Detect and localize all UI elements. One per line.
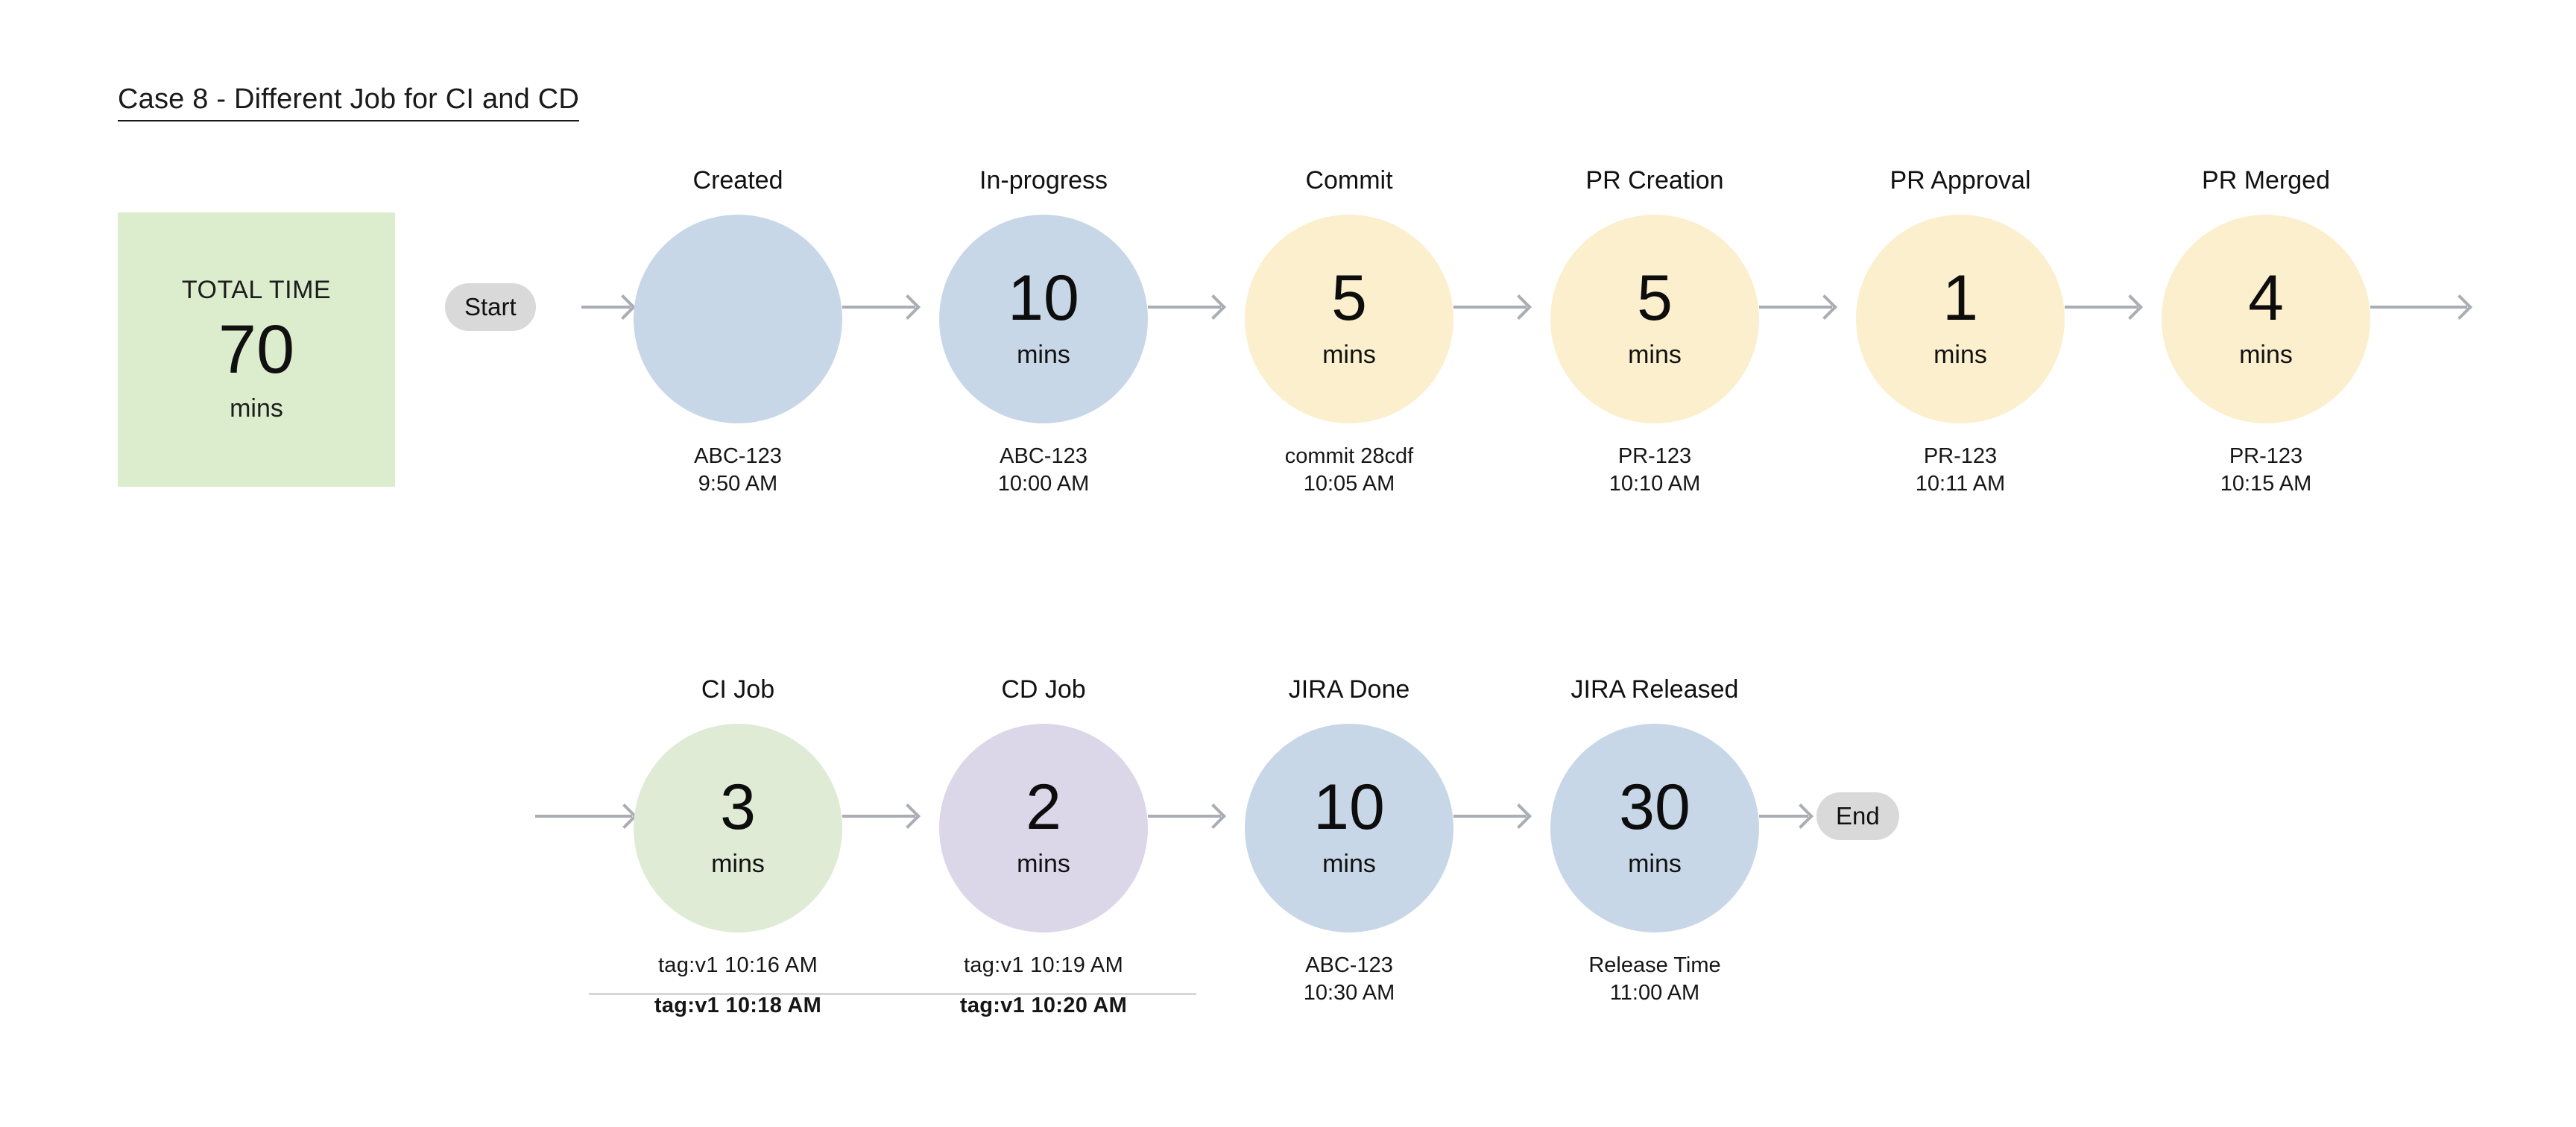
arrow-cdjob-to-jiradone — [1148, 815, 1221, 818]
node-title: PR Approval — [1856, 165, 2065, 196]
node-circle: 5 mins — [1550, 215, 1759, 423]
arrow-created-to-inprogress — [842, 306, 915, 309]
node-title: Created — [634, 165, 842, 196]
node-unit: mins — [2239, 341, 2293, 370]
node-unit: mins — [1322, 341, 1376, 370]
node-meta-time: 10:00 AM — [939, 470, 1148, 498]
node-meta-ref: PR-123 — [2162, 443, 2370, 470]
node-value: 5 — [1331, 268, 1367, 329]
node-title: CI Job — [634, 674, 842, 705]
flow-row-2: End CI Job 3 mins tag:v1 10:16 AM tag:v1… — [0, 619, 2576, 1036]
flow-row-1: Start Created mins ABC-123 9:50 AM In-pr… — [0, 149, 2576, 566]
node-ci-job[interactable]: CI Job 3 mins tag:v1 10:16 AM tag:v1 10:… — [634, 674, 842, 1020]
node-meta-ref: tag:v1 10:19 AM — [939, 952, 1148, 979]
node-pr-merged[interactable]: PR Merged 4 mins PR-123 10:15 AM — [2162, 165, 2370, 498]
node-title: PR Creation — [1550, 165, 1759, 196]
node-circle: 10 mins — [939, 215, 1148, 423]
node-meta: PR-123 10:15 AM — [2162, 443, 2370, 498]
node-value: 1 — [1942, 268, 1978, 329]
node-unit: mins — [1322, 850, 1376, 879]
node-meta-time: tag:v1 10:20 AM — [939, 992, 1148, 1020]
node-meta: ABC-123 10:00 AM — [939, 443, 1148, 498]
node-jira-done[interactable]: JIRA Done 10 mins ABC-123 10:30 AM — [1245, 674, 1453, 1007]
end-marker[interactable]: End — [1816, 792, 1899, 840]
node-meta-ref: ABC-123 — [1245, 952, 1453, 979]
arrow-commit-to-prcreation — [1453, 306, 1527, 309]
arrow-row2-wrap-in — [535, 815, 632, 818]
arrow-row1-wrap-out — [2370, 306, 2467, 309]
node-unit: mins — [1933, 341, 1987, 370]
node-title: CD Job — [939, 674, 1148, 705]
node-meta: ABC-123 10:30 AM — [1245, 952, 1453, 1007]
arrow-prcreation-to-prapproval — [1759, 306, 1832, 309]
arrow-jirareleased-to-end — [1759, 815, 1808, 818]
node-meta: ABC-123 9:50 AM — [634, 443, 842, 498]
node-circle: 2 mins — [939, 724, 1148, 932]
node-value: 2 — [1026, 777, 1061, 839]
node-meta-ref: PR-123 — [1550, 443, 1759, 470]
node-circle: 30 mins — [1550, 724, 1759, 932]
node-meta-time: 10:15 AM — [2162, 470, 2370, 498]
node-value: 4 — [2248, 268, 2284, 329]
node-title: JIRA Done — [1245, 674, 1453, 705]
node-meta: tag:v1 10:19 AM tag:v1 10:20 AM — [939, 952, 1148, 1020]
arrow-cijob-to-cdjob — [842, 815, 915, 818]
node-in-progress[interactable]: In-progress 10 mins ABC-123 10:00 AM — [939, 165, 1148, 498]
node-circle: 3 mins — [634, 724, 842, 932]
node-meta: commit 28cdf 10:05 AM — [1245, 443, 1453, 498]
node-meta-time: 10:05 AM — [1245, 470, 1453, 498]
node-circle: 10 mins — [1245, 724, 1453, 932]
arrow-start-to-created — [581, 306, 631, 309]
node-jira-released[interactable]: JIRA Released 30 mins Release Time 11:00… — [1550, 674, 1759, 1007]
node-meta-time: 9:50 AM — [634, 470, 842, 498]
node-meta-ref: commit 28cdf — [1245, 443, 1453, 470]
arrow-inprogress-to-commit — [1148, 306, 1221, 309]
node-meta-ref: ABC-123 — [939, 443, 1148, 470]
job-meta-divider — [589, 993, 1196, 995]
node-cd-job[interactable]: CD Job 2 mins tag:v1 10:19 AM tag:v1 10:… — [939, 674, 1148, 1020]
node-unit: mins — [1628, 341, 1682, 370]
node-title: Commit — [1245, 165, 1453, 196]
node-meta-ref: ABC-123 — [634, 443, 842, 470]
node-value: 3 — [720, 777, 756, 839]
arrow-prapproval-to-prmerged — [2065, 306, 2138, 309]
node-meta-time: 11:00 AM — [1550, 979, 1759, 1007]
node-pr-approval[interactable]: PR Approval 1 mins PR-123 10:11 AM — [1856, 165, 2065, 498]
node-meta-ref: PR-123 — [1856, 443, 2065, 470]
node-meta: Release Time 11:00 AM — [1550, 952, 1759, 1007]
node-meta-time: 10:10 AM — [1550, 470, 1759, 498]
node-value: 5 — [1637, 268, 1673, 329]
node-value: 30 — [1619, 777, 1690, 839]
node-created[interactable]: Created mins ABC-123 9:50 AM — [634, 165, 842, 498]
page-title: Case 8 - Different Job for CI and CD — [118, 83, 579, 116]
node-value: 10 — [1313, 777, 1385, 839]
node-pr-creation[interactable]: PR Creation 5 mins PR-123 10:10 AM — [1550, 165, 1759, 498]
node-meta-time: tag:v1 10:18 AM — [634, 992, 842, 1020]
node-meta: tag:v1 10:16 AM tag:v1 10:18 AM — [634, 952, 842, 1020]
node-title: In-progress — [939, 165, 1148, 196]
node-unit: mins — [1628, 850, 1682, 879]
node-circle: 5 mins — [1245, 215, 1453, 423]
node-unit: mins — [1017, 341, 1070, 370]
node-unit: mins — [1017, 850, 1070, 879]
node-circle: 4 mins — [2162, 215, 2370, 423]
node-meta-ref: tag:v1 10:16 AM — [634, 952, 842, 979]
node-meta-time: 10:11 AM — [1856, 470, 2065, 498]
node-circle: 1 mins — [1856, 215, 2065, 423]
node-meta-ref: Release Time — [1550, 952, 1759, 979]
node-title: PR Merged — [2162, 165, 2370, 196]
node-meta-time: 10:30 AM — [1245, 979, 1453, 1007]
arrow-jiradone-to-jirareleased — [1453, 815, 1527, 818]
node-meta: PR-123 10:11 AM — [1856, 443, 2065, 498]
start-marker[interactable]: Start — [445, 283, 536, 331]
node-circle: mins — [634, 215, 842, 423]
node-title: JIRA Released — [1550, 674, 1759, 705]
node-commit[interactable]: Commit 5 mins commit 28cdf 10:05 AM — [1245, 165, 1453, 498]
node-value: 10 — [1008, 268, 1079, 329]
node-meta: PR-123 10:10 AM — [1550, 443, 1759, 498]
node-unit: mins — [711, 850, 765, 879]
